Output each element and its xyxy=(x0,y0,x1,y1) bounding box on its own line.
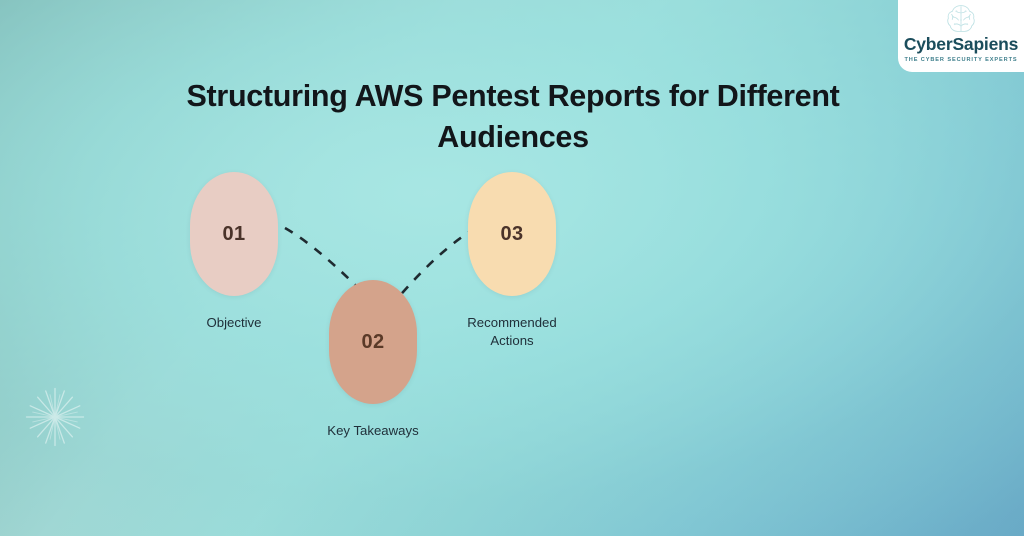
brand-wordmark: CyberSapiens xyxy=(904,36,1018,54)
step-number-02: 02 xyxy=(361,331,384,354)
step-label-01: Objective xyxy=(207,314,262,332)
brand-word-first: Cyber xyxy=(904,34,953,54)
sunburst-ornament xyxy=(24,386,86,448)
step-item-03[interactable]: 03 Recommended Actions xyxy=(466,172,558,350)
brand-word-second: Sapiens xyxy=(952,34,1018,54)
infographic-canvas: CyberSapiens THE CYBER SECURITY EXPERTS … xyxy=(0,0,1024,536)
step-item-01[interactable]: 01 Objective xyxy=(188,172,280,332)
page-title: Structuring AWS Pentest Reports for Diff… xyxy=(160,76,866,157)
step-number-01: 01 xyxy=(222,223,245,246)
step-pill-03[interactable]: 03 xyxy=(468,172,556,296)
step-number-03: 03 xyxy=(500,223,523,246)
step-label-03: Recommended Actions xyxy=(467,314,556,350)
brand-tagline: THE CYBER SECURITY EXPERTS xyxy=(904,57,1017,63)
brand-logo-badge[interactable]: CyberSapiens THE CYBER SECURITY EXPERTS xyxy=(898,0,1024,72)
step-label-02: Key Takeaways xyxy=(327,422,418,440)
step-item-02[interactable]: 02 Key Takeaways xyxy=(327,280,419,440)
brain-circuit-icon xyxy=(944,3,978,35)
step-pill-02[interactable]: 02 xyxy=(329,280,417,404)
step-pill-01[interactable]: 01 xyxy=(190,172,278,296)
